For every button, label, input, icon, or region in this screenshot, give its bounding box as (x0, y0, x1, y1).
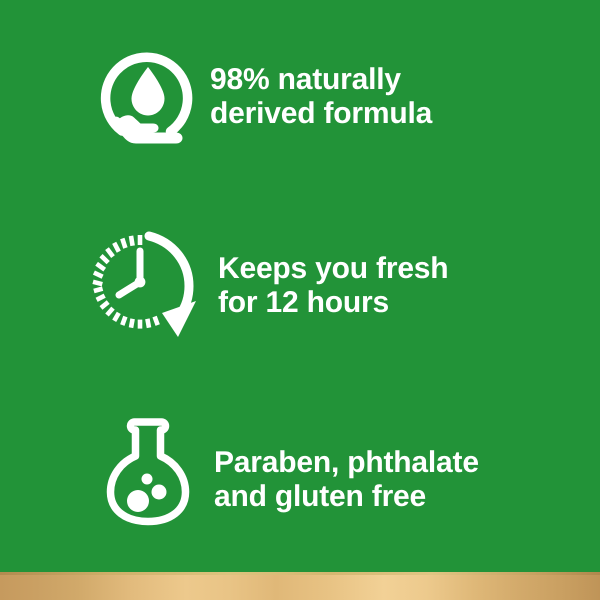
clock-with-arrow-icon (88, 222, 208, 350)
benefit-row-free-from: Paraben, phthalate and gluten free (88, 408, 479, 534)
product-benefits-panel: 98% naturally derived formula (0, 0, 600, 600)
benefit-row-naturally-derived: 98% naturally derived formula (88, 38, 432, 156)
gold-band-highlight (0, 572, 600, 575)
benefit-row-keeps-fresh: Keeps you fresh for 12 hours (88, 222, 448, 350)
water-drop-in-hand-icon (88, 38, 208, 156)
flask-with-bubbles-icon (88, 408, 208, 534)
gold-accent-band (0, 572, 600, 600)
benefits-list: 98% naturally derived formula (0, 0, 600, 572)
benefit-text-naturally-derived: 98% naturally derived formula (210, 63, 432, 131)
benefit-text-keeps-fresh: Keeps you fresh for 12 hours (218, 252, 448, 320)
benefit-text-free-from: Paraben, phthalate and gluten free (214, 446, 479, 514)
